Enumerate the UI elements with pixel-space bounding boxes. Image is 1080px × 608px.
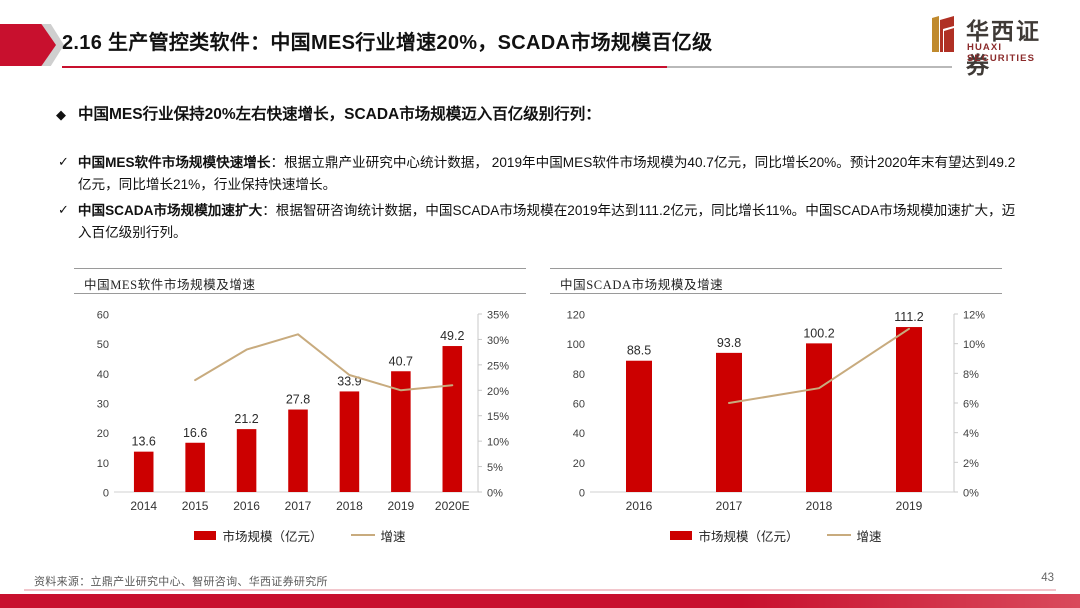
svg-text:20: 20 [573,458,585,470]
svg-text:4%: 4% [963,428,979,440]
legend-line-label: 增速 [381,526,406,545]
svg-text:0: 0 [579,488,585,500]
svg-text:40: 40 [573,428,585,440]
legend-item-bar: 市场规模（亿元） [670,526,798,545]
chart-plot-scada: 0204060801001200%2%4%6%8%10%12%88.593.81… [550,302,1002,520]
chart-legend-mes: 市场规模（亿元） 增速 [74,524,526,546]
svg-text:21.2: 21.2 [234,412,258,426]
bullet-bold-scada: 中国SCADA市场规模加速扩大 [78,203,262,218]
svg-text:2019: 2019 [388,499,415,513]
logo-text-en: HUAXI SECURITIES [967,42,1062,64]
svg-text:6%: 6% [963,399,979,411]
source-note: 资料来源：立鼎产业研究中心、智研咨询、华西证券研究所 [34,573,328,589]
svg-text:40.7: 40.7 [389,354,413,368]
svg-text:2018: 2018 [806,499,833,513]
svg-text:100.2: 100.2 [803,326,834,340]
bullet-item-mes: ✓ 中国MES软件市场规模快速增长：根据立鼎产业研究中心统计数据， 2019年中… [58,152,1016,196]
svg-text:30%: 30% [487,335,509,347]
page-title: 2.16 生产管控类软件：中国MES行业增速20%，SCADA市场规模百亿级 [62,26,712,55]
legend-item-bar: 市场规模（亿元） [194,526,322,545]
legend-bar-swatch-icon [194,531,216,540]
legend-line-label: 增速 [857,526,882,545]
svg-text:100: 100 [567,339,585,351]
svg-text:2014: 2014 [130,499,157,513]
chart-panel-mes: 中国MES软件市场规模及增速 01020304050600%5%10%15%20… [74,268,526,568]
svg-text:20%: 20% [487,386,509,398]
chart-title-scada: 中国SCADA市场规模及增速 [560,274,723,293]
svg-text:2020E: 2020E [435,499,470,513]
header-underline [62,66,952,68]
chart-plot-mes: 01020304050600%5%10%15%20%25%30%35%13.61… [74,302,526,520]
svg-text:2018: 2018 [336,499,363,513]
svg-text:88.5: 88.5 [627,344,651,358]
svg-text:2019: 2019 [896,499,923,513]
company-logo: 华西证券 HUAXI SECURITIES [930,12,1062,62]
slide: 2.16 生产管控类软件：中国MES行业增速20%，SCADA市场规模百亿级 华… [0,0,1080,608]
legend-line-swatch-icon [827,534,851,537]
svg-text:2017: 2017 [716,499,743,513]
svg-text:93.8: 93.8 [717,336,741,350]
lead-bullet-text: 中国MES行业保持20%左右快速增长，SCADA市场规模迈入百亿级别行列： [78,102,601,124]
svg-text:2017: 2017 [285,499,312,513]
legend-bar-swatch-icon [670,531,692,540]
footer-band-fade [740,594,1080,608]
svg-text:20: 20 [97,428,109,440]
svg-text:2015: 2015 [182,499,209,513]
svg-text:60: 60 [97,310,109,322]
svg-text:80: 80 [573,369,585,381]
svg-text:2016: 2016 [233,499,260,513]
footer-rule [24,589,1056,591]
svg-text:10%: 10% [487,437,509,449]
lead-bullet: ◆ 中国MES行业保持20%左右快速增长，SCADA市场规模迈入百亿级别行列： [56,102,601,124]
svg-text:60: 60 [573,399,585,411]
bullet-body-mes: 中国MES软件市场规模快速增长：根据立鼎产业研究中心统计数据， 2019年中国M… [78,152,1016,196]
svg-text:0: 0 [103,488,109,500]
legend-item-line: 增速 [351,526,406,545]
svg-text:120: 120 [567,310,585,322]
svg-text:13.6: 13.6 [132,435,156,449]
svg-text:27.8: 27.8 [286,393,310,407]
svg-text:15%: 15% [487,411,509,423]
chart-title-mes: 中国MES软件市场规模及增速 [84,274,256,293]
svg-text:30: 30 [97,399,109,411]
svg-text:12%: 12% [963,310,985,322]
bullet-item-scada: ✓ 中国SCADA市场规模加速扩大：根据智研咨询统计数据，中国SCADA市场规模… [58,200,1016,244]
svg-text:5%: 5% [487,462,503,474]
svg-text:2%: 2% [963,458,979,470]
svg-text:10%: 10% [963,339,985,351]
bullet-body-scada: 中国SCADA市场规模加速扩大：根据智研咨询统计数据，中国SCADA市场规模在2… [78,200,1016,244]
svg-text:111.2: 111.2 [894,310,923,324]
check-bullet-icon: ✓ [58,152,69,172]
svg-text:2016: 2016 [626,499,653,513]
svg-text:0%: 0% [487,488,503,500]
legend-bar-label: 市场规模（亿元） [698,526,798,545]
svg-text:50: 50 [97,339,109,351]
svg-text:10: 10 [97,458,109,470]
legend-bar-label: 市场规模（亿元） [222,526,322,545]
legend-item-line: 增速 [827,526,882,545]
check-bullet-icon: ✓ [58,200,69,220]
chart-title-bar-mes: 中国MES软件市场规模及增速 [74,268,526,294]
svg-text:25%: 25% [487,360,509,372]
svg-text:0%: 0% [963,488,979,500]
chart-legend-scada: 市场规模（亿元） 增速 [550,524,1002,546]
svg-text:49.2: 49.2 [440,329,464,343]
slide-header: 2.16 生产管控类软件：中国MES行业增速20%，SCADA市场规模百亿级 [0,18,1080,74]
chart-title-bar-scada: 中国SCADA市场规模及增速 [550,268,1002,294]
svg-text:40: 40 [97,369,109,381]
svg-text:8%: 8% [963,369,979,381]
svg-text:35%: 35% [487,310,509,322]
page-number: 43 [1041,572,1054,584]
svg-text:16.6: 16.6 [183,426,207,440]
chart-panel-scada: 中国SCADA市场规模及增速 0204060801001200%2%4%6%8%… [550,268,1002,568]
huaxi-h-mark-icon [930,14,960,54]
diamond-bullet-icon: ◆ [56,107,66,123]
legend-line-swatch-icon [351,534,375,537]
bullet-bold-mes: 中国MES软件市场规模快速增长 [78,155,271,170]
